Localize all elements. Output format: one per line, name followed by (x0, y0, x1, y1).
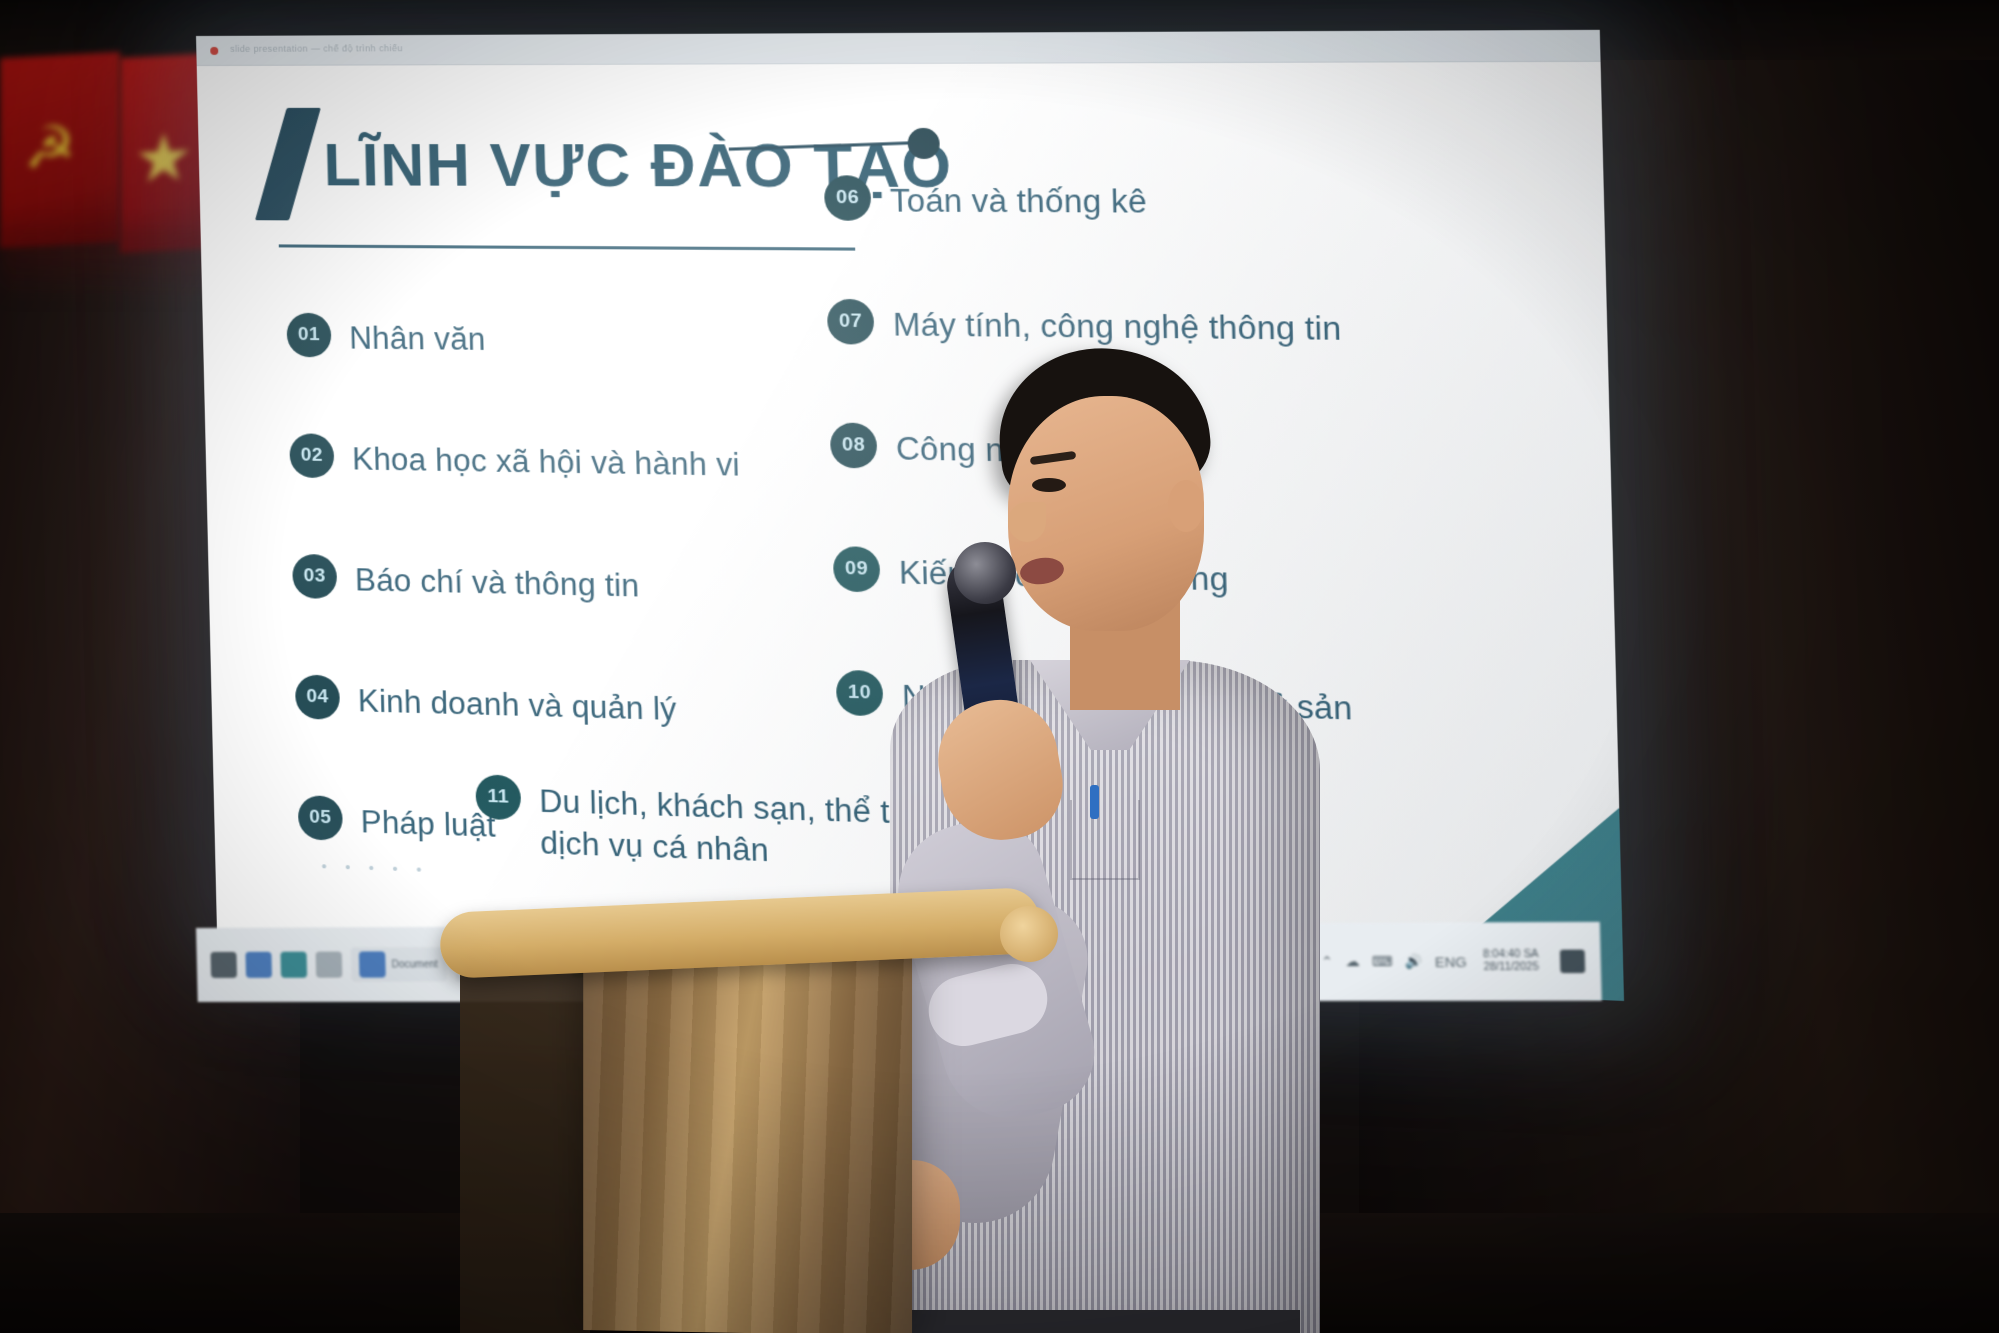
chat-icon[interactable] (316, 952, 343, 978)
speaker-eye (1032, 478, 1066, 492)
lectern-side-panel (460, 956, 590, 1333)
clock-time: 8:04:40 SA (1483, 948, 1539, 961)
speaker-nose (1008, 502, 1046, 542)
list-item: 04 Kinh doanh và quản lý (295, 674, 779, 734)
hammer-sickle-icon: ☭ (24, 116, 86, 189)
decorative-dot-grid: • • • • • (321, 861, 428, 876)
item-label: Kinh doanh và quản lý (357, 676, 677, 731)
list-item: 03 Báo chí và thông tin (292, 554, 775, 611)
item-number-badge: 04 (295, 674, 340, 719)
language-indicator[interactable]: ENG (1435, 954, 1467, 970)
volume-icon[interactable]: 🔊 (1405, 953, 1423, 970)
edge-browser-icon[interactable] (245, 952, 272, 978)
speaker-shirt-pocket (1070, 800, 1140, 880)
title-underline (279, 244, 855, 250)
item-number-badge: 10 (836, 669, 884, 716)
lectern (560, 900, 980, 1333)
browser-url-text: slide presentation — chế độ trình chiếu (230, 43, 403, 54)
item-label-line2: dịch vụ cá nhân (540, 825, 769, 868)
browser-chrome-bar: slide presentation — chế độ trình chiếu (196, 30, 1601, 66)
item-label: Khoa học xã hội và hành vi (352, 434, 741, 487)
mail-icon[interactable] (280, 952, 307, 978)
lectern-body (583, 949, 912, 1333)
item-number-badge: 05 (298, 795, 343, 841)
item-number-badge: 09 (833, 546, 881, 592)
item-label: Nhân văn (349, 313, 486, 361)
item-number-badge: 02 (289, 433, 334, 478)
list-item: 02 Khoa học xã hội và hành vi (289, 433, 772, 487)
presentation-photo-scene: ☭ ★ slide presentation — chế độ trình ch… (0, 0, 1999, 1333)
file-explorer-icon[interactable] (210, 952, 237, 978)
notification-icon[interactable] (1560, 950, 1585, 973)
item-number-badge: 01 (286, 313, 331, 358)
taskbar-window-chip-1[interactable]: Document (351, 947, 447, 982)
pen-icon (1090, 785, 1099, 819)
title-end-dot-icon (907, 128, 940, 159)
party-flag: ☭ (0, 52, 120, 248)
clock-date: 28/11/2025 (1483, 961, 1539, 974)
list-item: 01 Nhân văn (286, 313, 769, 364)
record-dot-icon (210, 47, 218, 55)
speaker-ear (1168, 480, 1204, 532)
item-number-badge: 07 (827, 299, 875, 345)
network-icon[interactable]: ⌨ (1372, 953, 1393, 970)
item-number-badge: 11 (475, 774, 521, 820)
taskbar-clock[interactable]: 8:04:40 SA 28/11/2025 (1483, 948, 1550, 975)
title-slash-icon (255, 108, 321, 221)
item-number-badge: 06 (824, 175, 872, 220)
item-number-badge: 03 (292, 554, 337, 599)
yellow-star-icon: ★ (134, 126, 193, 189)
taskbar-window-label-1: Document (391, 959, 438, 970)
item-number-badge: 08 (830, 422, 878, 468)
list-item: 06 Toán và thống kê (824, 175, 1521, 225)
item-label: Báo chí và thông tin (354, 555, 639, 608)
item-label: Toán và thống kê (889, 175, 1147, 224)
word-icon (359, 951, 386, 977)
